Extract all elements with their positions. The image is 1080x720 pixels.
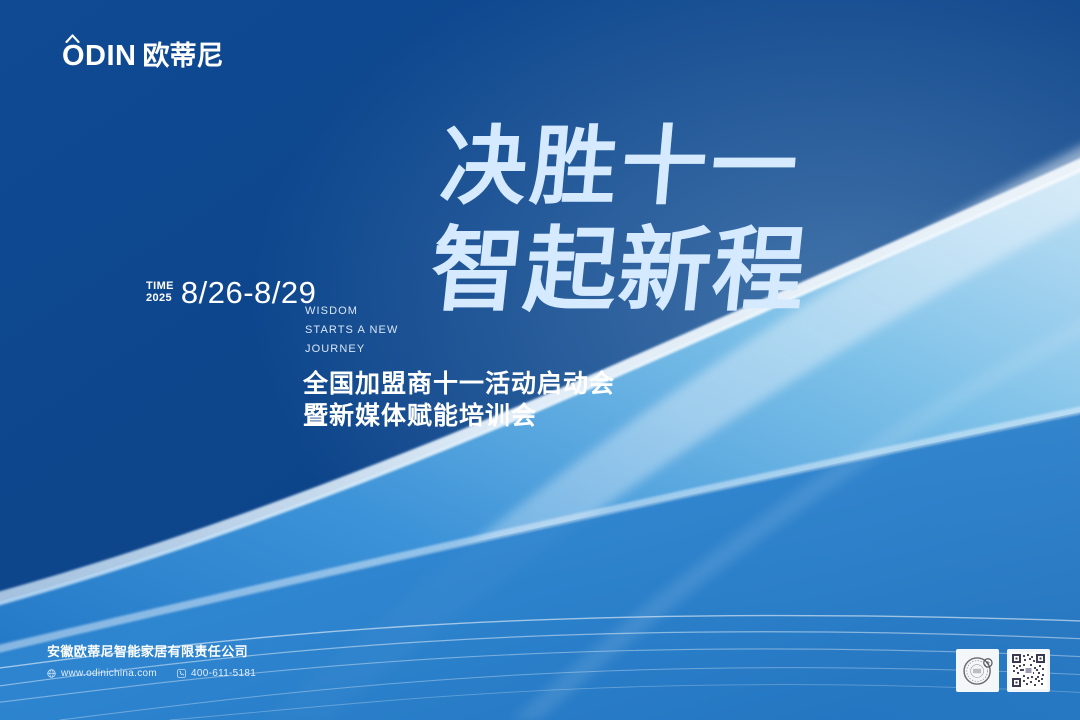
phone-contact[interactable]: 400-611-5181 <box>177 668 256 679</box>
headline-line-2: 智起新程 <box>430 215 813 324</box>
event-date-range: 8/26-8/29 <box>181 277 317 308</box>
globe-icon <box>47 669 56 678</box>
contact-row: www.odinichina.com 400-611-5181 <box>47 668 256 679</box>
website-contact[interactable]: www.odinichina.com <box>47 668 157 679</box>
headline: 决胜十一 智起新程 <box>430 110 930 340</box>
phone-label: 400-611-5181 <box>191 668 256 679</box>
seal-badge[interactable] <box>956 649 999 692</box>
qr-code-icon <box>1010 652 1047 689</box>
badge-group <box>956 649 1050 692</box>
english-tagline: WISDOM STARTS A NEW JOURNEY <box>305 302 398 359</box>
logo-latin-text: ODIN <box>62 42 137 71</box>
tagline-line-2: STARTS A NEW <box>305 321 398 340</box>
brand-logo: ODIN 欧蒂尼 <box>62 42 224 71</box>
event-subtitle: 全国加盟商十一活动启动会 暨新媒体赋能培训会 <box>303 368 615 432</box>
event-date-block: TIME 2025 8/26-8/29 <box>146 277 316 308</box>
tagline-line-3: JOURNEY <box>305 340 398 359</box>
footer: 安徽欧蒂尼智能家居有限责任公司 www.odinichina.com 400-6… <box>47 645 256 679</box>
headline-line-1: 决胜十一 <box>437 116 806 217</box>
tagline-line-1: WISDOM <box>305 302 398 321</box>
logo-latin-label: ODIN <box>62 40 137 72</box>
website-label: www.odinichina.com <box>61 668 157 679</box>
company-name: 安徽欧蒂尼智能家居有限责任公司 <box>47 645 256 662</box>
time-label: TIME 2025 <box>146 277 174 304</box>
qr-badge[interactable] <box>1007 649 1050 692</box>
time-label-top: TIME <box>146 281 174 293</box>
logo-chinese-label: 欧蒂尼 <box>143 43 224 70</box>
background-artwork <box>0 0 1080 720</box>
subtitle-line-2: 暨新媒体赋能培训会 <box>303 400 615 432</box>
time-label-year: 2025 <box>146 293 174 305</box>
subtitle-line-1: 全国加盟商十一活动启动会 <box>303 368 615 400</box>
event-poster: ODIN 欧蒂尼 决胜十一 智起新程 TIME 2025 8/26-8/29 W… <box>0 0 1080 720</box>
seal-icon <box>960 653 996 689</box>
phone-icon <box>177 669 186 678</box>
